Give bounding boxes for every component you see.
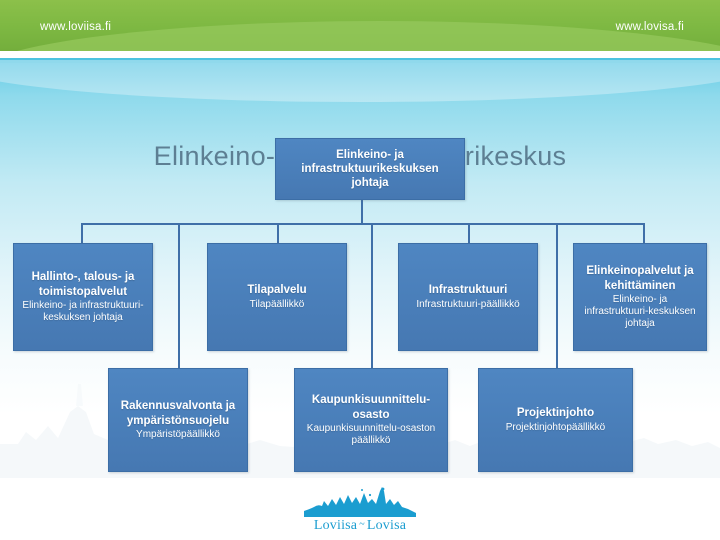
header-green-band: www.loviisa.fi www.lovisa.fi — [0, 0, 720, 51]
node-root-title: Elinkeino- ja infrastruktuurikeskuksen j… — [282, 148, 458, 190]
connector-horizontal-bus — [81, 223, 643, 225]
connector-drop-infrastruktuuri — [468, 223, 470, 243]
cyan-wave-decoration — [0, 60, 720, 102]
node-role: Kaupunkisuunnittelu-osaston päällikkö — [301, 423, 441, 447]
node-title: Kaupunkisuunnittelu-osasto — [301, 393, 441, 421]
node-elinkeinopalvelut-kehittaminen[interactable]: Elinkeinopalvelut ja kehittäminen Elinke… — [573, 243, 707, 351]
node-rakennusvalvonta-ymparistonsuojelu[interactable]: Rakennusvalvonta ja ympäristönsuojelu Ym… — [108, 368, 248, 472]
slide-canvas: www.loviisa.fi www.lovisa.fi Elinkeino- … — [0, 0, 720, 540]
node-role: Elinkeino- ja infrastruktuuri-keskuksen … — [580, 294, 700, 330]
node-role: Projektinjohtopäällikkö — [506, 422, 606, 434]
url-lovisa-fi[interactable]: www.lovisa.fi — [616, 21, 684, 33]
slide-body-background: Elinkeino- ja infrastruktuurikeskus Elin… — [0, 58, 720, 540]
node-infrastruktuuri[interactable]: Infrastruktuuri Infrastruktuuri-päällikk… — [398, 243, 538, 351]
connector-drop-rakennusvalvonta — [178, 223, 180, 368]
url-loviisa-fi[interactable]: www.loviisa.fi — [40, 21, 111, 33]
logo-wordmark: Loviisa~Lovisa — [314, 518, 406, 534]
logo-name-fi: Loviisa — [314, 518, 357, 533]
node-role: Infrastruktuuri-päällikkö — [416, 299, 519, 311]
node-title: Infrastruktuuri — [429, 283, 508, 297]
node-role: Ympäristöpäällikkö — [136, 429, 220, 441]
node-role: Elinkeino- ja infrastruktuuri-keskuksen … — [20, 300, 146, 324]
connector-drop-tilapalvelu — [277, 223, 279, 243]
connector-drop-kaupunkisuunnittelu — [371, 223, 373, 368]
logo-separator: ~ — [357, 519, 367, 530]
logo-name-sv: Lovisa — [367, 518, 406, 533]
node-title: Tilapalvelu — [247, 283, 306, 297]
connector-drop-hallinto — [81, 223, 83, 243]
node-projektinjohto[interactable]: Projektinjohto Projektinjohtopäällikkö — [478, 368, 633, 472]
connector-drop-projektinjohto — [556, 223, 558, 368]
node-title: Elinkeinopalvelut ja kehittäminen — [580, 264, 700, 292]
node-tilapalvelu[interactable]: Tilapalvelu Tilapäällikkö — [207, 243, 347, 351]
node-role: Tilapäällikkö — [250, 299, 305, 311]
connector-root-stem — [361, 200, 363, 224]
node-title: Projektinjohto — [517, 406, 594, 420]
town-skyline-logo-icon — [300, 487, 420, 517]
node-title: Rakennusvalvonta ja ympäristönsuojelu — [115, 399, 241, 427]
node-hallinto-talous-toimistopalvelut[interactable]: Hallinto-, talous- ja toimistopalvelut E… — [13, 243, 153, 351]
connector-drop-elinkeinopalvelut — [643, 223, 645, 243]
node-kaupunkisuunnittelu-osasto[interactable]: Kaupunkisuunnittelu-osasto Kaupunkisuunn… — [294, 368, 448, 472]
node-root-director[interactable]: Elinkeino- ja infrastruktuurikeskuksen j… — [275, 138, 465, 200]
node-title: Hallinto-, talous- ja toimistopalvelut — [20, 270, 146, 298]
loviisa-lovisa-logo[interactable]: Loviisa~Lovisa — [287, 484, 433, 534]
